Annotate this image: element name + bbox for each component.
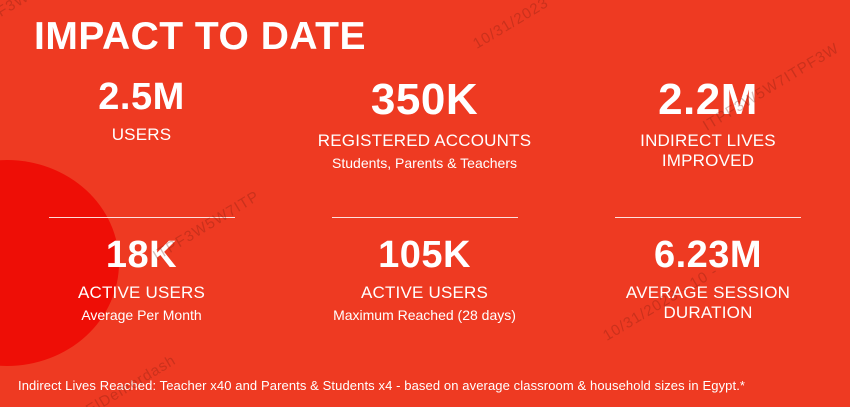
stat-card-average-session-duration: 6.23M AVERAGE SESSION DURATION [566,218,850,360]
stat-card-active-users-max: 105K ACTIVE USERS Maximum Reached (28 da… [283,218,566,360]
stat-label: ACTIVE USERS [361,283,488,303]
stat-value: 2.5M [98,78,184,116]
stat-label: REGISTERED ACCOUNTS [318,131,532,151]
stat-card-users: 2.5M USERS [0,78,283,218]
stat-sublabel: Average Per Month [81,307,201,324]
stat-value: 18K [106,236,177,274]
page-title: IMPACT TO DATE [34,16,366,59]
stat-label: AVERAGE SESSION [626,283,790,303]
impact-to-date-slide: F3W5W7ITPF3W ITPF3W5W7ITP 10/31/2023 - 1… [0,0,850,407]
stat-card-registered-accounts: 350K REGISTERED ACCOUNTS Students, Paren… [283,78,566,218]
statistics-grid: 2.5M USERS 350K REGISTERED ACCOUNTS Stud… [0,78,850,360]
stat-value: 2.2M [658,78,758,122]
stat-label-line2: DURATION [663,303,752,323]
stat-card-active-users-monthly: 18K ACTIVE USERS Average Per Month [0,218,283,360]
stat-value: 350K [371,78,478,122]
stat-card-indirect-lives: 2.2M INDIRECT LIVES IMPROVED [566,78,850,218]
stat-sublabel: Maximum Reached (28 days) [333,307,516,324]
footnote: Indirect Lives Reached: Teacher x40 and … [18,378,745,395]
stat-value: 105K [378,236,471,274]
stat-label: INDIRECT LIVES [640,131,776,151]
stat-label: USERS [112,125,172,145]
stat-value: 6.23M [654,236,762,274]
stat-sublabel: Students, Parents & Teachers [332,155,517,172]
stat-label: ACTIVE USERS [78,283,205,303]
watermark-text: 10/31/2023 - 10 - Malak El [470,0,652,53]
stat-label-line2: IMPROVED [662,151,754,171]
